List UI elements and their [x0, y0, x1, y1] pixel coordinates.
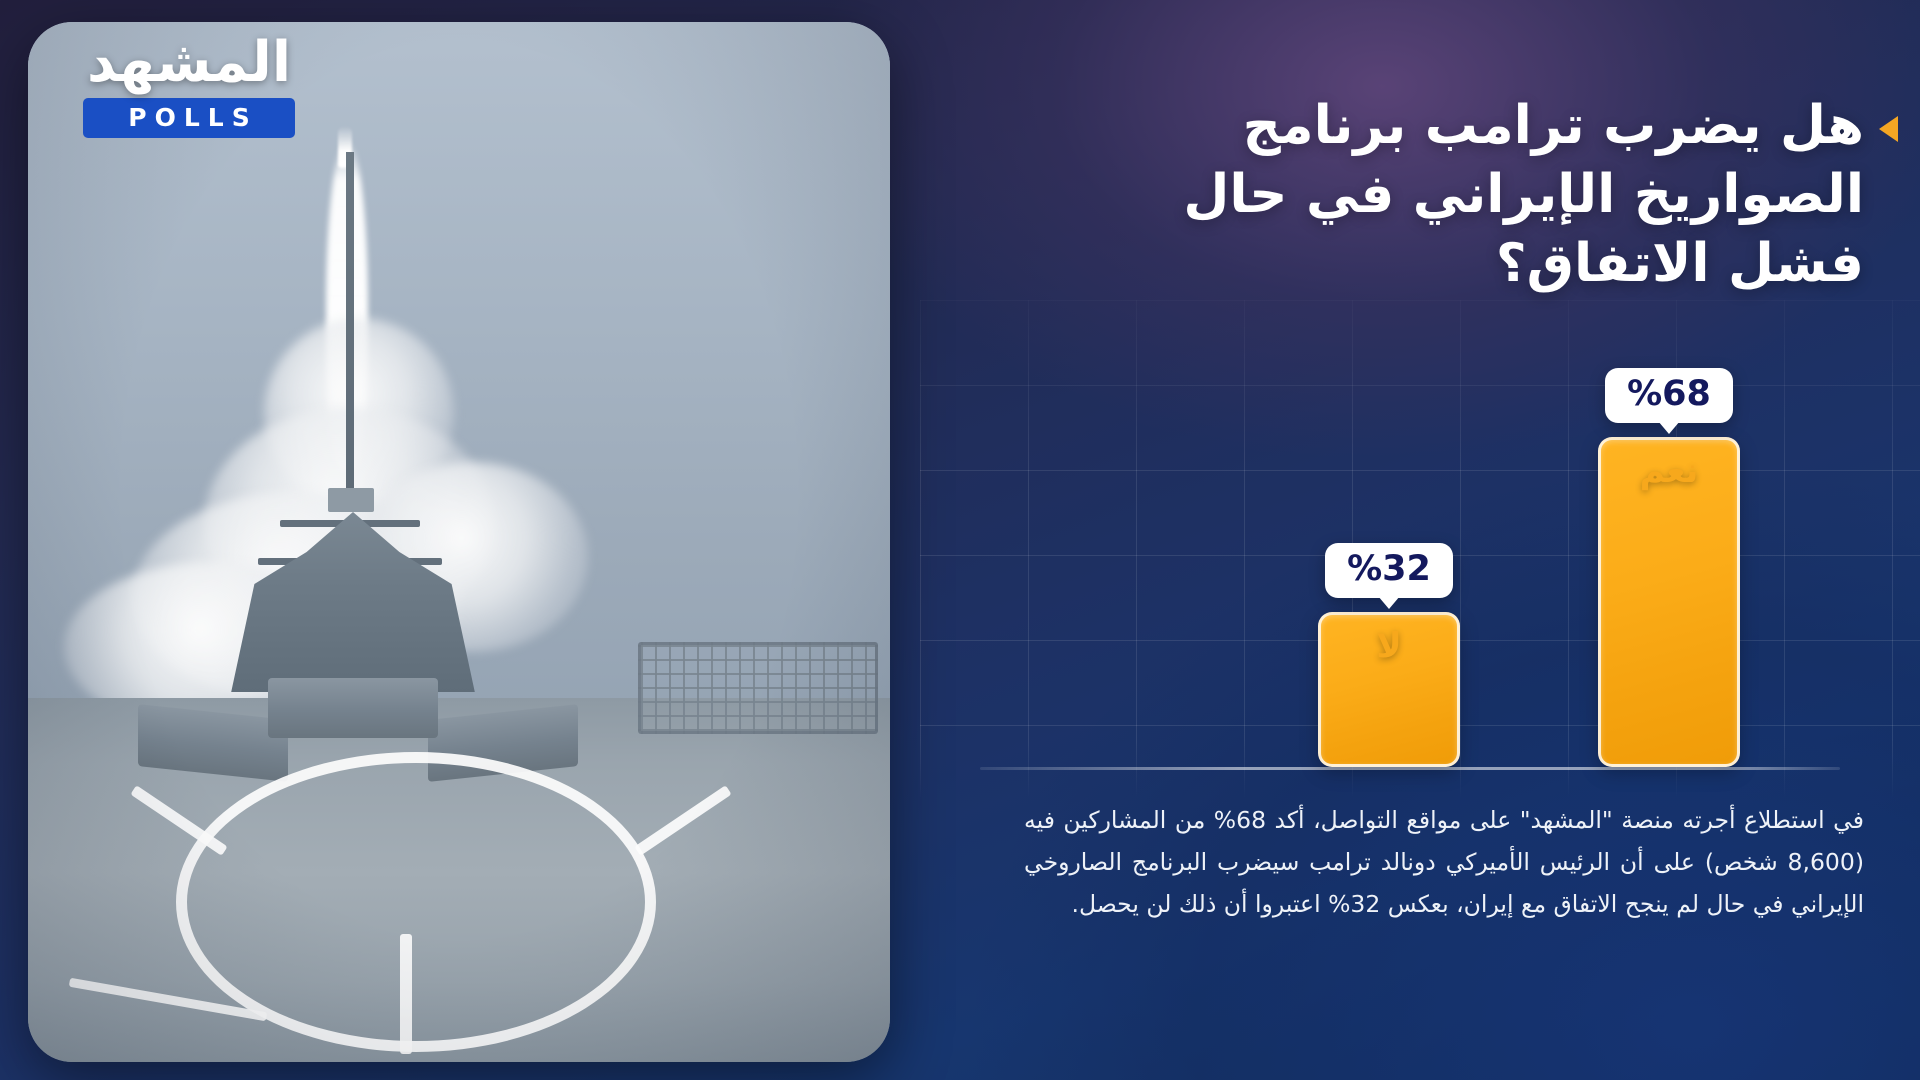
ship-radar-panel — [328, 488, 374, 512]
deck-stripe-center — [400, 934, 412, 1054]
chart-baseline-axis — [980, 767, 1840, 770]
infographic-canvas: المشهد POLLS هل يضرب ترامب برنامج الصوار… — [0, 0, 1920, 1080]
helipad-circle-marking — [176, 752, 656, 1052]
poll-bar-chart: %68 نعم %32 لا — [960, 330, 1860, 770]
bar-label-no: لا — [1376, 626, 1401, 666]
ship-deck-house — [268, 678, 438, 738]
title-line-1: هل يضرب ترامب برنامج — [1243, 95, 1864, 156]
ship-mast — [346, 152, 354, 502]
bar-group-yes: %68 نعم — [1598, 437, 1740, 767]
title-line-2: الصواريخ الإيراني في حال — [1183, 164, 1864, 225]
value-pill-no: %32 — [1325, 543, 1453, 598]
triangle-left-icon — [1879, 116, 1898, 142]
page-title: هل يضرب ترامب برنامج الصواريخ الإيراني ف… — [1164, 92, 1864, 299]
warship-missile-launch-photo — [28, 22, 890, 1062]
poll-summary-paragraph: في استطلاع أجرته منصة "المشهد" على مواقع… — [1024, 800, 1864, 925]
bar-group-no: %32 لا — [1318, 612, 1460, 767]
logo-polls-badge: POLLS — [83, 98, 295, 138]
logo-arabic-text: المشهد — [74, 34, 304, 92]
value-pill-yes: %68 — [1605, 368, 1733, 423]
title-line-3: فشل الاتفاق؟ — [1496, 233, 1864, 294]
brand-logo[interactable]: المشهد POLLS — [74, 34, 304, 138]
ship-railing — [638, 642, 878, 734]
bar-label-yes: نعم — [1640, 451, 1699, 491]
title-heading: هل يضرب ترامب برنامج الصواريخ الإيراني ف… — [1164, 92, 1864, 299]
